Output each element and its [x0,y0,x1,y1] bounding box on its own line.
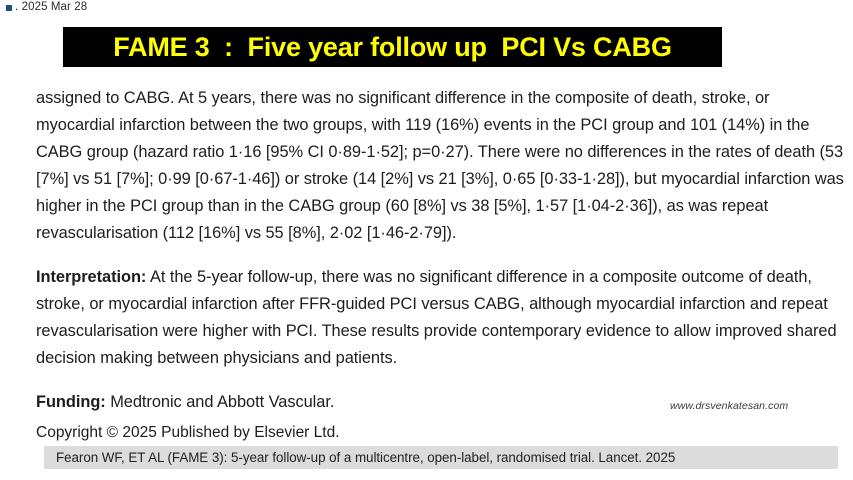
funding-text: Medtronic and Abbott Vascular. [106,393,335,411]
document-date-line: . 2025 Mar 28 [6,1,87,13]
interpretation-paragraph: Interpretation: At the 5-year follow-up,… [36,264,848,372]
square-bullet-icon [6,5,12,11]
copyright-line: Copyright © 2025 Published by Elsevier L… [36,424,340,442]
title-banner: FAME 3 : Five year follow up PCI Vs CABG [63,27,722,67]
site-watermark: www.drsvenkatesan.com [670,400,788,412]
funding-label: Funding: [36,393,106,411]
page-title: FAME 3 : Five year follow up PCI Vs CABG [113,32,672,63]
interpretation-label: Interpretation: [36,268,146,286]
abstract-body: assigned to CABG. At 5 years, there was … [36,85,851,425]
document-date-text: . 2025 Mar 28 [15,1,87,13]
results-paragraph: assigned to CABG. At 5 years, there was … [36,85,852,247]
interpretation-text: At the 5-year follow-up, there was no si… [36,268,837,367]
citation-bar: Fearon WF, ET AL (FAME 3): 5-year follow… [44,446,838,469]
citation-text: Fearon WF, ET AL (FAME 3): 5-year follow… [44,450,675,465]
